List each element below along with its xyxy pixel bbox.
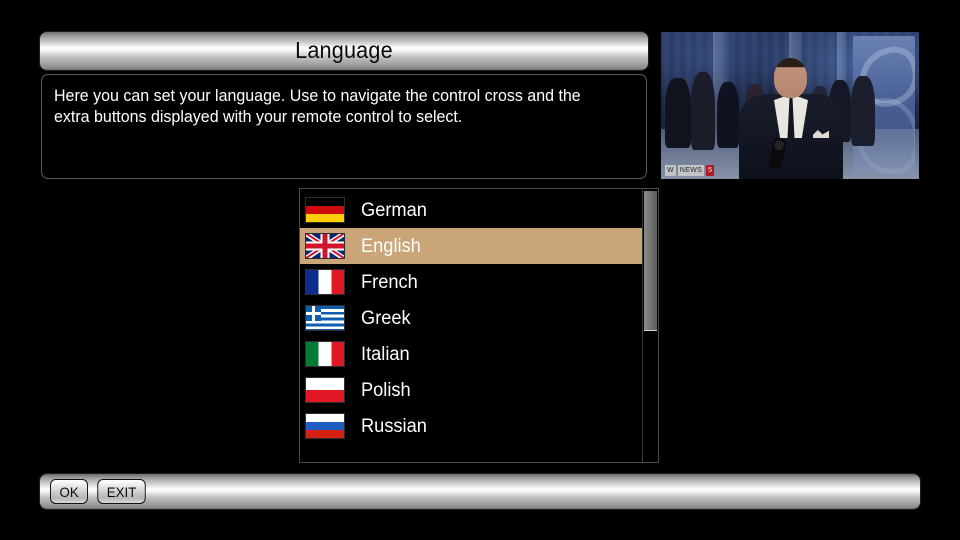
video-crowd-figure <box>851 76 875 146</box>
list-item[interactable]: Italian <box>300 336 642 372</box>
broadcaster-logo-part-3: 5 <box>706 165 714 176</box>
flag-russia-icon <box>305 413 345 439</box>
list-item-label: Greek <box>361 309 411 328</box>
list-scrollbar-thumb[interactable] <box>644 191 657 331</box>
list-item-label: Russian <box>361 417 427 436</box>
list-item[interactable]: French <box>300 264 642 300</box>
flag-united-kingdom-icon <box>305 233 345 259</box>
list-item[interactable]: English <box>300 228 642 264</box>
page-title-bar: Language <box>40 32 648 70</box>
flag-germany-icon <box>305 197 345 223</box>
list-item-label: Polish <box>361 381 411 400</box>
flag-france-icon <box>305 269 345 295</box>
broadcaster-logo-part-1: W <box>665 165 676 176</box>
video-crowd-figure <box>691 72 715 150</box>
list-item-label: German <box>361 201 427 220</box>
exit-button[interactable]: EXIT <box>98 479 147 504</box>
video-crowd-figure <box>717 82 739 148</box>
broadcaster-logo-part-2: NEWS <box>678 165 704 176</box>
flag-italy-icon <box>305 341 345 367</box>
tv-settings-screen: Language Here you can set your language.… <box>0 0 960 540</box>
help-text-panel: Here you can set your language. Use to n… <box>41 74 647 179</box>
flag-greece-icon <box>305 305 345 331</box>
list-item[interactable]: Polish <box>300 372 642 408</box>
list-item-label: French <box>361 273 418 292</box>
help-text: Here you can set your language. Use to n… <box>54 86 617 128</box>
broadcaster-logo: W NEWS 5 <box>665 165 714 176</box>
list-item-label: English <box>361 237 421 256</box>
video-reporter-head <box>774 58 807 98</box>
list-item[interactable]: Russian <box>300 408 642 444</box>
list-scrollbar[interactable] <box>642 190 657 463</box>
list-item[interactable]: German <box>300 192 642 228</box>
ok-button[interactable]: OK <box>50 479 88 504</box>
page-title: Language <box>295 39 393 64</box>
list-item-label: Italian <box>361 345 410 364</box>
video-preview[interactable]: W NEWS 5 <box>661 32 919 179</box>
list-item[interactable]: Greek <box>300 300 642 336</box>
flag-poland-icon <box>305 377 345 403</box>
language-list: German English French Greek <box>300 192 642 444</box>
video-crowd-figure <box>665 78 691 148</box>
language-list-panel: German English French Greek <box>299 188 659 463</box>
footer-button-bar: OK EXIT <box>40 474 920 509</box>
